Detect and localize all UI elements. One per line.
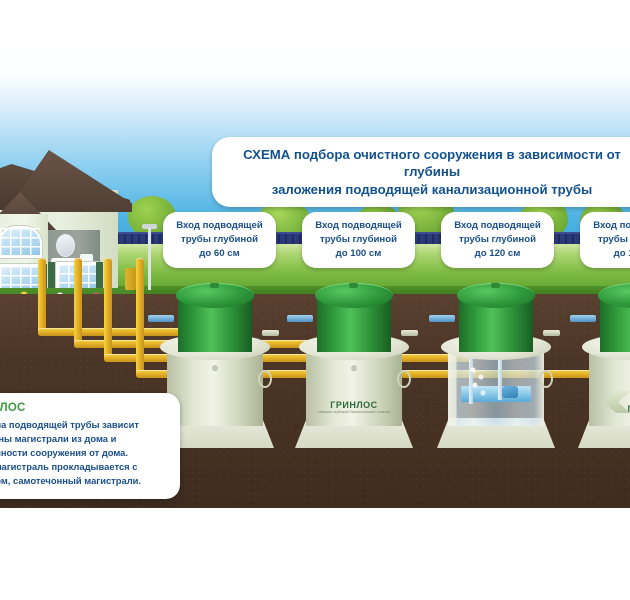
depth-label-line-2: трубы глубиной xyxy=(450,233,545,247)
note-line-1: Глубина подводящей трубы зависит xyxy=(0,418,168,432)
tank-body: ◍ xyxy=(589,350,630,426)
inlet-pipe-icon xyxy=(429,315,455,322)
title-line-1: СХЕМА подбора очистного сооружения в зав… xyxy=(226,146,630,181)
tank-handle-icon xyxy=(539,370,553,388)
pump-unit-icon xyxy=(125,268,136,290)
inlet-pipe-icon xyxy=(570,315,596,322)
mirror-icon xyxy=(56,234,75,257)
pipe-drop-4 xyxy=(136,258,144,378)
shutter xyxy=(96,262,103,290)
note-callout: ГРИНЛОС Глубина подводящей трубы зависит… xyxy=(0,393,180,499)
aeration-bubbles xyxy=(469,366,489,400)
infographic-canvas: ◍ ◍ ГРИНЛОС станция xyxy=(0,0,630,600)
inlet-pipe-icon xyxy=(287,315,313,322)
pipe-drop-3 xyxy=(104,258,112,362)
depth-label-60: Вход подводящей трубы глубиной до 60 см xyxy=(163,212,276,268)
treatment-unit-4[interactable]: ◍ ГРИ xyxy=(578,268,630,448)
depth-label-line-1: Вход подводящей xyxy=(589,219,630,233)
lid-handle-icon xyxy=(491,283,500,288)
tank-subbrand-text: станция глубокой биологической очистки xyxy=(295,410,413,414)
treatment-unit-2[interactable]: ◍ ГРИНЛОС станция глубокой биологической… xyxy=(295,268,413,448)
depth-label-line-2: трубы глубиной xyxy=(311,233,406,247)
depth-label-140: Вход подводящей трубы глубиной до 140 см xyxy=(580,212,630,268)
note-line-2: от длины магистрали из дома и xyxy=(0,432,168,446)
pump-icon xyxy=(502,386,518,398)
lid-handle-icon xyxy=(349,283,358,288)
note-line-4: Сама магистраль прокладывается с xyxy=(0,460,168,474)
tank-brand-label: ГРИНЛОС станция глубокой биологической о… xyxy=(295,400,413,414)
depth-label-line-1: Вход подводящей xyxy=(450,219,545,233)
tank-emblem: ◍ xyxy=(589,364,630,372)
title-banner: СХЕМА подбора очистного сооружения в зав… xyxy=(212,137,630,207)
sky-haze xyxy=(0,36,630,84)
note-line-3: удаленности сооружения от дома. xyxy=(0,446,168,460)
tank-emblem: ◍ xyxy=(306,364,403,372)
depth-label-100: Вход подводящей трубы глубиной до 100 см xyxy=(302,212,415,268)
depth-label-value: до 60 см xyxy=(172,247,267,261)
window xyxy=(0,226,42,258)
outlet-pipe-icon xyxy=(262,330,279,336)
tank-body: ◍ xyxy=(167,350,264,426)
depth-label-line-2: трубы глубиной xyxy=(589,233,630,247)
tank-emblem: ◍ xyxy=(167,364,264,372)
note-title: ГРИНЛОС xyxy=(0,402,168,414)
outlet-pipe-icon xyxy=(543,330,560,336)
vent-pipe xyxy=(148,228,151,290)
treatment-unit-3[interactable] xyxy=(437,268,555,448)
note-body: Глубина подводящей трубы зависит от длин… xyxy=(0,418,168,489)
outlet-pipe-icon xyxy=(401,330,418,336)
depth-label-value: до 140 см xyxy=(589,247,630,261)
shutter xyxy=(48,262,55,290)
pipe-drop-1 xyxy=(38,258,46,336)
scene: ◍ ◍ ГРИНЛОС станция xyxy=(0,36,630,508)
tank-handle-icon xyxy=(258,370,272,388)
note-line-5: уклоном, самотечонный магистрали. xyxy=(0,474,168,488)
tank-body: ◍ xyxy=(306,350,403,426)
tank-handle-icon xyxy=(397,370,411,388)
depth-label-line-1: Вход подводящей xyxy=(172,219,267,233)
pipe-drop-2 xyxy=(74,258,82,348)
depth-label-line-2: трубы глубиной xyxy=(172,233,267,247)
title-line-2: заложения подводящей канализационной тру… xyxy=(226,181,630,198)
inlet-pipe-icon xyxy=(148,315,174,322)
lid-handle-icon xyxy=(210,283,219,288)
depth-label-value: до 100 см xyxy=(311,247,406,261)
tank-body-cutaway xyxy=(448,350,545,426)
depth-label-value: до 120 см xyxy=(450,247,545,261)
depth-label-line-1: Вход подводящей xyxy=(311,219,406,233)
depth-label-120: Вход подводящей трубы глубиной до 120 см xyxy=(441,212,554,268)
tank-brand-text: ГРИНЛОС xyxy=(330,400,377,410)
